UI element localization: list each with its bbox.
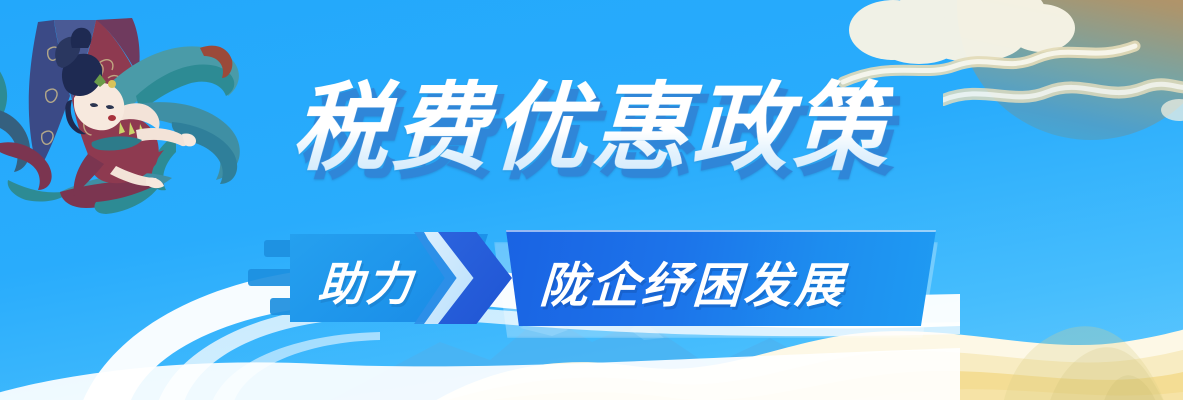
subtitle-ribbon: 助力 陇企纾困发展: [248, 226, 938, 330]
subtitle-left-label: 助力: [316, 248, 415, 314]
banner-title-wrap: 税费优惠政策: [0, 78, 1183, 179]
subtitle-right-label: 陇企纾困发展: [538, 246, 848, 316]
banner-title: 税费优惠政策: [290, 78, 894, 179]
tax-policy-banner: 税费优惠政策 助力 陇企纾困发展: [0, 0, 1183, 400]
